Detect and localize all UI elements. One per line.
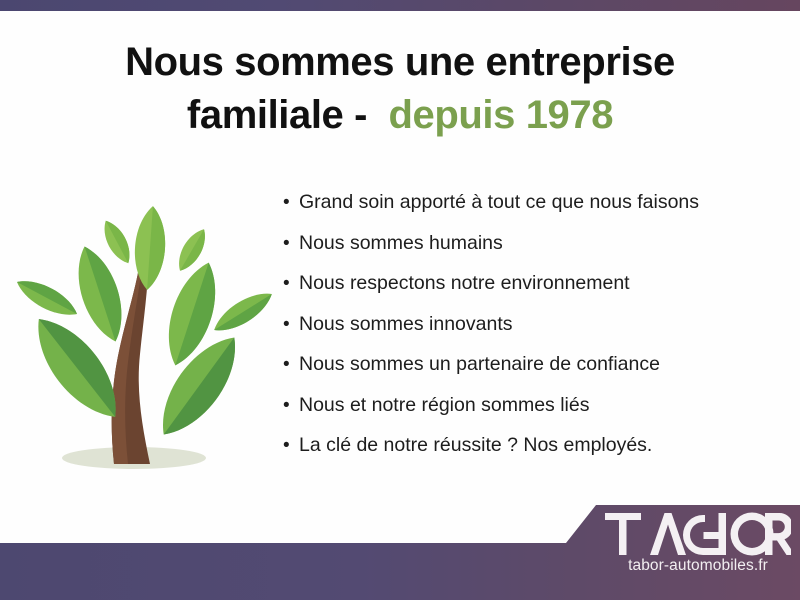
bullet-marker-icon: • xyxy=(283,433,299,458)
page-title: Nous sommes une entreprise familiale - d… xyxy=(0,36,800,142)
bullet-marker-icon: • xyxy=(283,352,299,377)
benefits-list: • Grand soin apporté à tout ce que nous … xyxy=(283,190,783,474)
list-item-label: Grand soin apporté à tout ce que nous fa… xyxy=(299,190,699,215)
tree-illustration xyxy=(14,186,276,486)
list-item-label: La clé de notre réussite ? Nos employés. xyxy=(299,433,652,458)
list-item: • Nous sommes un partenaire de confiance xyxy=(283,352,783,377)
bullet-marker-icon: • xyxy=(283,190,299,215)
brand-logo[interactable]: tabor-automobiles.fr xyxy=(600,512,796,575)
list-item: • Nous sommes humains xyxy=(283,231,783,256)
list-item-label: Nous respectons notre environnement xyxy=(299,271,630,296)
bullet-marker-icon: • xyxy=(283,271,299,296)
leaf-far-left xyxy=(14,273,82,323)
list-item-label: Nous sommes un partenaire de confiance xyxy=(299,352,660,377)
list-item: • Nous sommes innovants xyxy=(283,312,783,337)
top-accent-bar xyxy=(0,0,800,11)
headline-accent-since-1978: depuis 1978 xyxy=(388,93,613,137)
list-item: • Nous respectons notre environnement xyxy=(283,271,783,296)
leaf-upper-left-small xyxy=(98,217,136,268)
presentation-slide: Nous sommes une entreprise familiale - d… xyxy=(0,0,800,600)
headline-line-1: Nous sommes une entreprise xyxy=(0,36,800,89)
bullet-marker-icon: • xyxy=(283,393,299,418)
headline-line-2: familiale - depuis 1978 xyxy=(0,89,800,142)
list-item: • La clé de notre réussite ? Nos employé… xyxy=(283,433,783,458)
bullet-marker-icon: • xyxy=(283,312,299,337)
list-item-label: Nous sommes humains xyxy=(299,231,503,256)
bullet-marker-icon: • xyxy=(283,231,299,256)
list-item: • Grand soin apporté à tout ce que nous … xyxy=(283,190,783,215)
list-item: • Nous et notre région sommes liés xyxy=(283,393,783,418)
headline-line-2-plain: familiale - xyxy=(187,93,389,137)
leaf-far-right xyxy=(209,285,276,339)
logo-wordmark xyxy=(600,512,796,556)
list-item-label: Nous et notre région sommes liés xyxy=(299,393,589,418)
list-item-label: Nous sommes innovants xyxy=(299,312,513,337)
logo-tagline: tabor-automobiles.fr xyxy=(600,557,796,575)
